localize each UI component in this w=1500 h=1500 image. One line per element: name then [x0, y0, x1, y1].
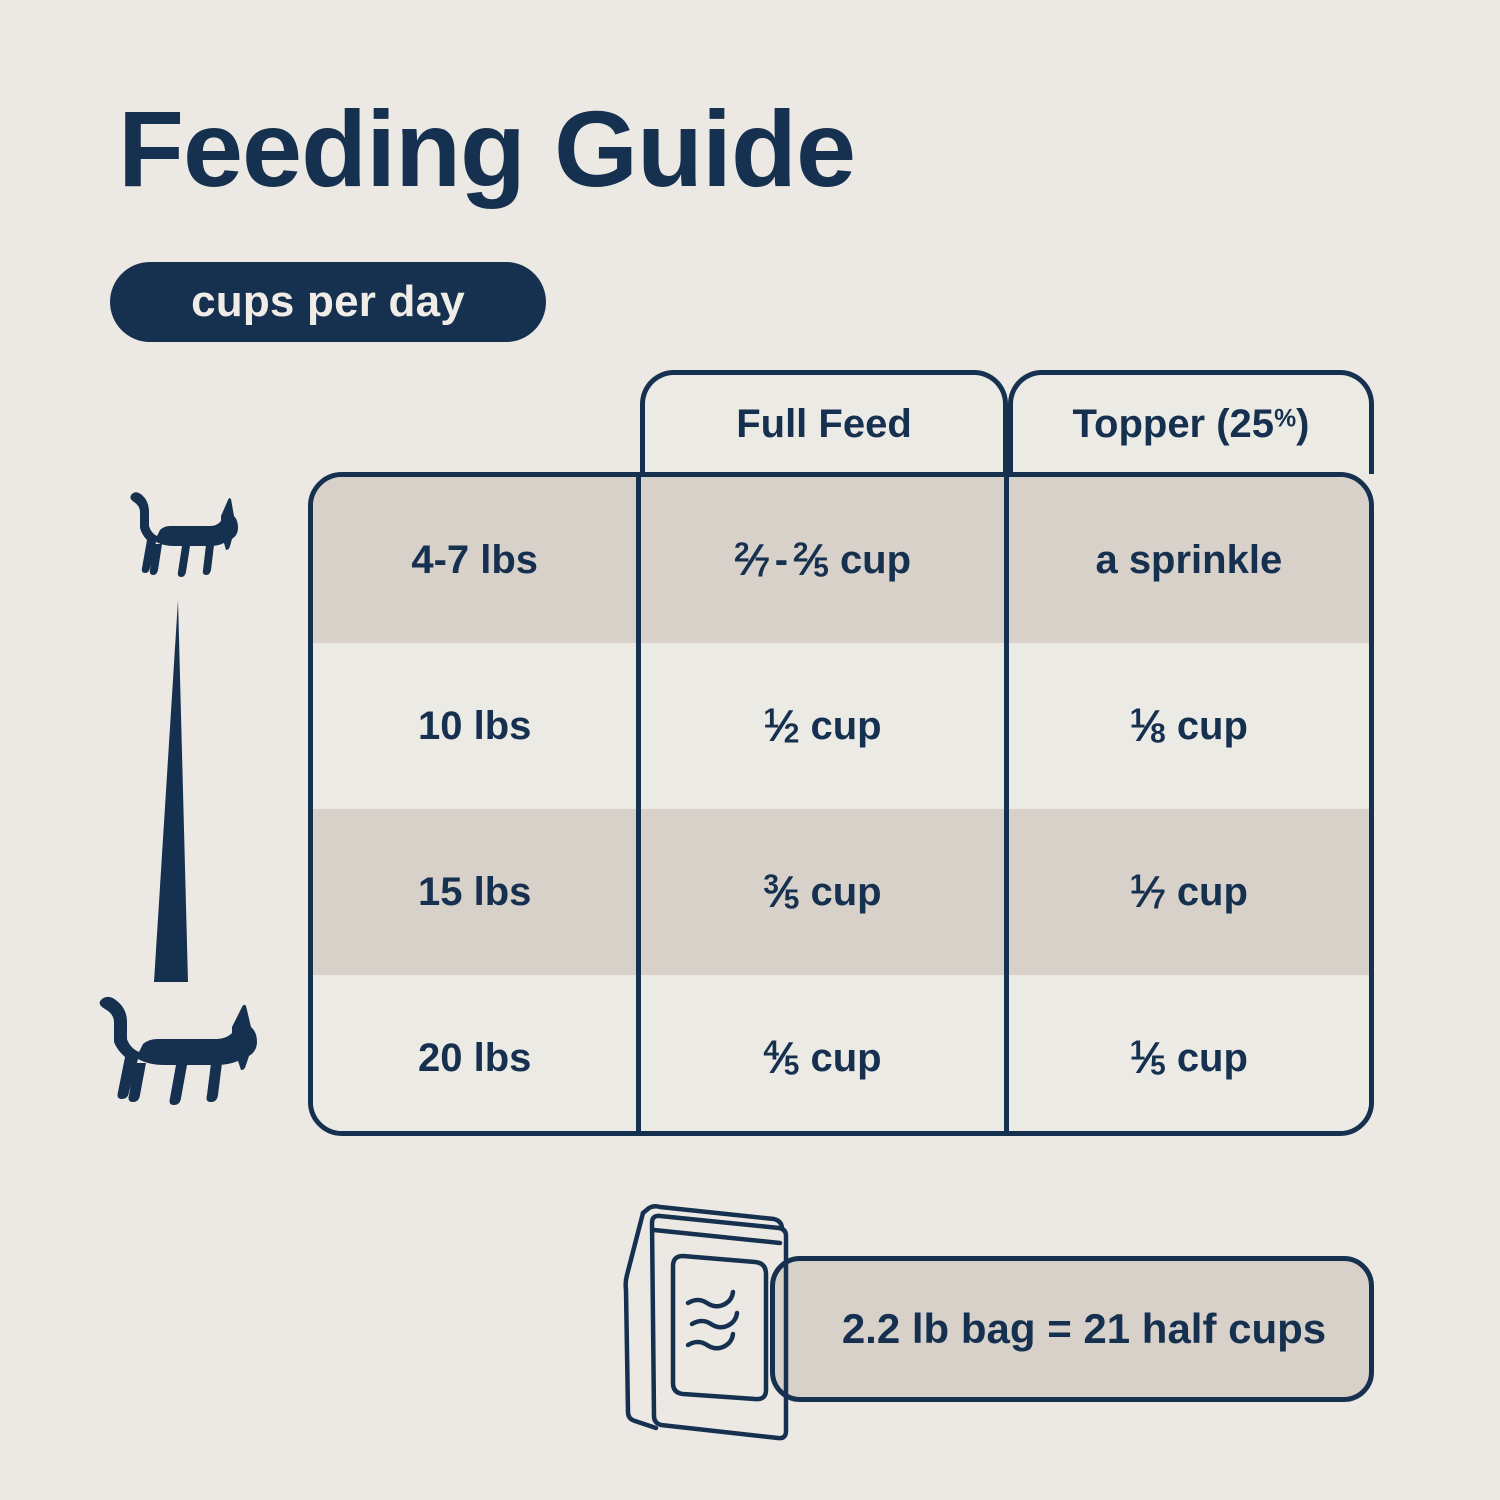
table-row: 15 lbs 3⁄5 cup 1⁄7 cup — [313, 809, 1369, 975]
cell-topper: 1⁄7 cup — [1004, 809, 1369, 975]
cups-per-day-label: cups per day — [191, 277, 465, 327]
cups-per-day-badge: cups per day — [110, 262, 546, 342]
full-feed-header-label: Full Feed — [736, 402, 912, 447]
cell-full-feed: 3⁄5 cup — [636, 809, 1003, 975]
cell-topper: 1⁄5 cup — [1004, 975, 1369, 1136]
fraction-value: 1⁄7 — [1130, 867, 1166, 918]
cell-full-feed: 4⁄5 cup — [636, 975, 1003, 1136]
fraction-value: 1⁄5 — [1130, 1033, 1166, 1084]
column-header-full-feed: Full Feed — [640, 370, 1008, 474]
cell-weight: 10 lbs — [313, 643, 636, 809]
topper-header-label: Topper (25%) — [1073, 402, 1310, 447]
cell-full-feed: 1⁄2 cup — [636, 643, 1003, 809]
fraction-value: 3⁄5 — [763, 867, 799, 918]
cell-full-feed: 2⁄7-2⁄5 cup — [636, 477, 1003, 643]
table-row: 4-7 lbs 2⁄7-2⁄5 cup a sprinkle — [313, 477, 1369, 643]
column-header-topper: Topper (25%) — [1008, 370, 1374, 474]
cell-weight: 4-7 lbs — [313, 477, 636, 643]
cell-topper: 1⁄8 cup — [1004, 643, 1369, 809]
fraction-value: 2⁄7 — [734, 535, 770, 586]
cell-topper: a sprinkle — [1004, 477, 1369, 643]
fraction-value-2: 2⁄5 — [793, 535, 829, 586]
fraction-value: 4⁄5 — [763, 1033, 799, 1084]
cat-silhouette-icon — [118, 488, 240, 590]
food-bag-icon — [616, 1200, 816, 1446]
bag-yield-banner: 2.2 lb bag = 21 half cups — [770, 1256, 1374, 1402]
fraction-value: 1⁄2 — [763, 701, 799, 752]
cat-silhouette-icon — [82, 992, 260, 1120]
cell-weight: 20 lbs — [313, 975, 636, 1136]
table-row: 20 lbs 4⁄5 cup 1⁄5 cup — [313, 975, 1369, 1136]
table-row: 10 lbs 1⁄2 cup 1⁄8 cup — [313, 643, 1369, 809]
bag-yield-label: 2.2 lb bag = 21 half cups — [818, 1305, 1326, 1353]
cell-weight: 15 lbs — [313, 809, 636, 975]
fraction-value: 1⁄8 — [1130, 701, 1166, 752]
growth-wedge-icon — [140, 600, 220, 982]
feeding-table: 4-7 lbs 2⁄7-2⁄5 cup a sprinkle 10 lbs 1⁄… — [308, 472, 1374, 1136]
page-title: Feeding Guide — [118, 92, 855, 205]
